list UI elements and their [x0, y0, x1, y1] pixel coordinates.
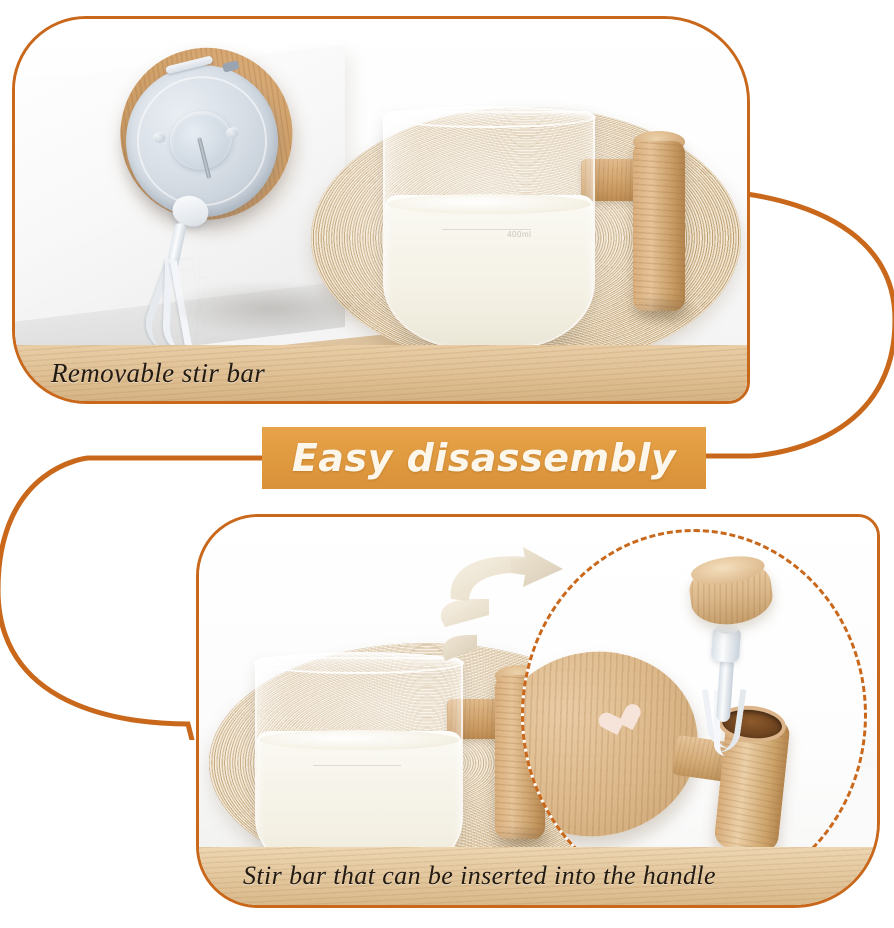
headline-banner: Easy disassembly [262, 427, 706, 489]
handle-shadow [629, 295, 699, 327]
wooden-handle [633, 141, 685, 311]
volume-graduation-mark [313, 765, 400, 772]
caption-band-bottom: Stir bar that can be inserted into the h… [199, 847, 877, 905]
mug-rim [382, 106, 596, 128]
panel-stir-bar-into-handle: Stir bar that can be inserted into the h… [196, 514, 880, 908]
mug-rim [254, 652, 464, 674]
milk-surface [259, 730, 459, 750]
caption-band-top: Removable stir bar [15, 345, 747, 401]
headline-text: Easy disassembly [292, 436, 676, 480]
lid-shadow [165, 281, 375, 335]
milk-fill [385, 195, 593, 347]
glass-mug: 400ml [383, 111, 595, 349]
lid-switch-detail [222, 60, 240, 73]
caption-text-bottom: Stir bar that can be inserted into the h… [243, 861, 716, 891]
lid-sensor-dot [152, 131, 167, 145]
milk-surface [387, 194, 591, 214]
heart-icon [603, 705, 640, 740]
panel-removable-stir-bar: 400ml Removable stir bar [12, 16, 750, 404]
caption-text-top: Removable stir bar [51, 358, 265, 389]
infographic-canvas: 400ml Removable stir bar [0, 0, 894, 928]
volume-graduation-mark: 400ml [442, 229, 531, 236]
dashed-callout-circle [521, 529, 867, 901]
stir-bar-collar [711, 627, 741, 663]
wooden-cap [686, 557, 776, 630]
